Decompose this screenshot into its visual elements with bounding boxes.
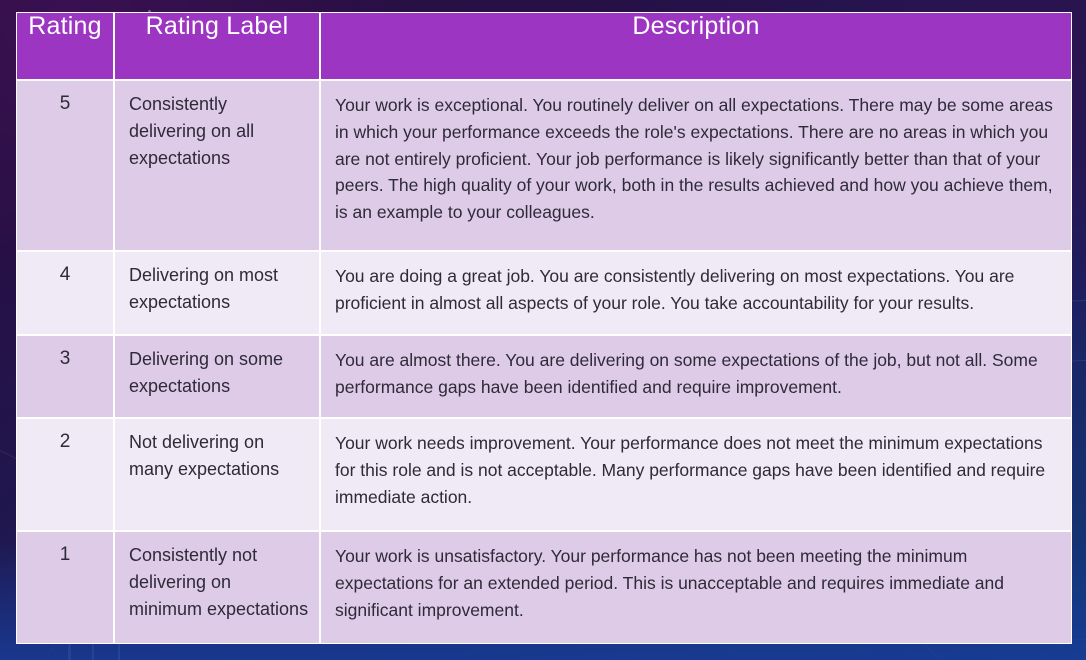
cell-rating: 2 — [16, 418, 114, 531]
cell-description: Your work needs improvement. Your perfor… — [320, 418, 1072, 531]
column-header-rating-label: Rating Label — [114, 12, 320, 80]
cell-rating-label: Consistently not delivering on minimum e… — [114, 531, 320, 644]
table-header: Rating Rating Label Description — [16, 12, 1072, 80]
cell-rating-label: Delivering on most expectations — [114, 251, 320, 335]
cell-description: Your work is exceptional. You routinely … — [320, 80, 1072, 251]
table-row: 4 Delivering on most expectations You ar… — [16, 251, 1072, 335]
column-header-rating: Rating — [16, 12, 114, 80]
table-row: 3 Delivering on some expectations You ar… — [16, 335, 1072, 419]
rating-table-container: Rating Rating Label Description 5 Consis… — [16, 12, 1072, 644]
cell-description: You are doing a great job. You are consi… — [320, 251, 1072, 335]
decorative-streak-icon — [118, 642, 120, 660]
cell-rating: 4 — [16, 251, 114, 335]
cell-rating-label: Delivering on some expectations — [114, 335, 320, 419]
cell-rating: 3 — [16, 335, 114, 419]
table-row: 1 Consistently not delivering on minimum… — [16, 531, 1072, 644]
table-row: 2 Not delivering on many expectations Yo… — [16, 418, 1072, 531]
cell-rating: 1 — [16, 531, 114, 644]
table-row: 5 Consistently delivering on all expecta… — [16, 80, 1072, 251]
table-body: 5 Consistently delivering on all expecta… — [16, 80, 1072, 644]
table-header-row: Rating Rating Label Description — [16, 12, 1072, 80]
cell-rating: 5 — [16, 80, 114, 251]
cell-description: You are almost there. You are delivering… — [320, 335, 1072, 419]
cell-rating-label: Not delivering on many expectations — [114, 418, 320, 531]
column-header-description: Description — [320, 12, 1072, 80]
performance-rating-table: Rating Rating Label Description 5 Consis… — [16, 12, 1072, 644]
cell-rating-label: Consistently delivering on all expectati… — [114, 80, 320, 251]
cell-description: Your work is unsatisfactory. Your perfor… — [320, 531, 1072, 644]
